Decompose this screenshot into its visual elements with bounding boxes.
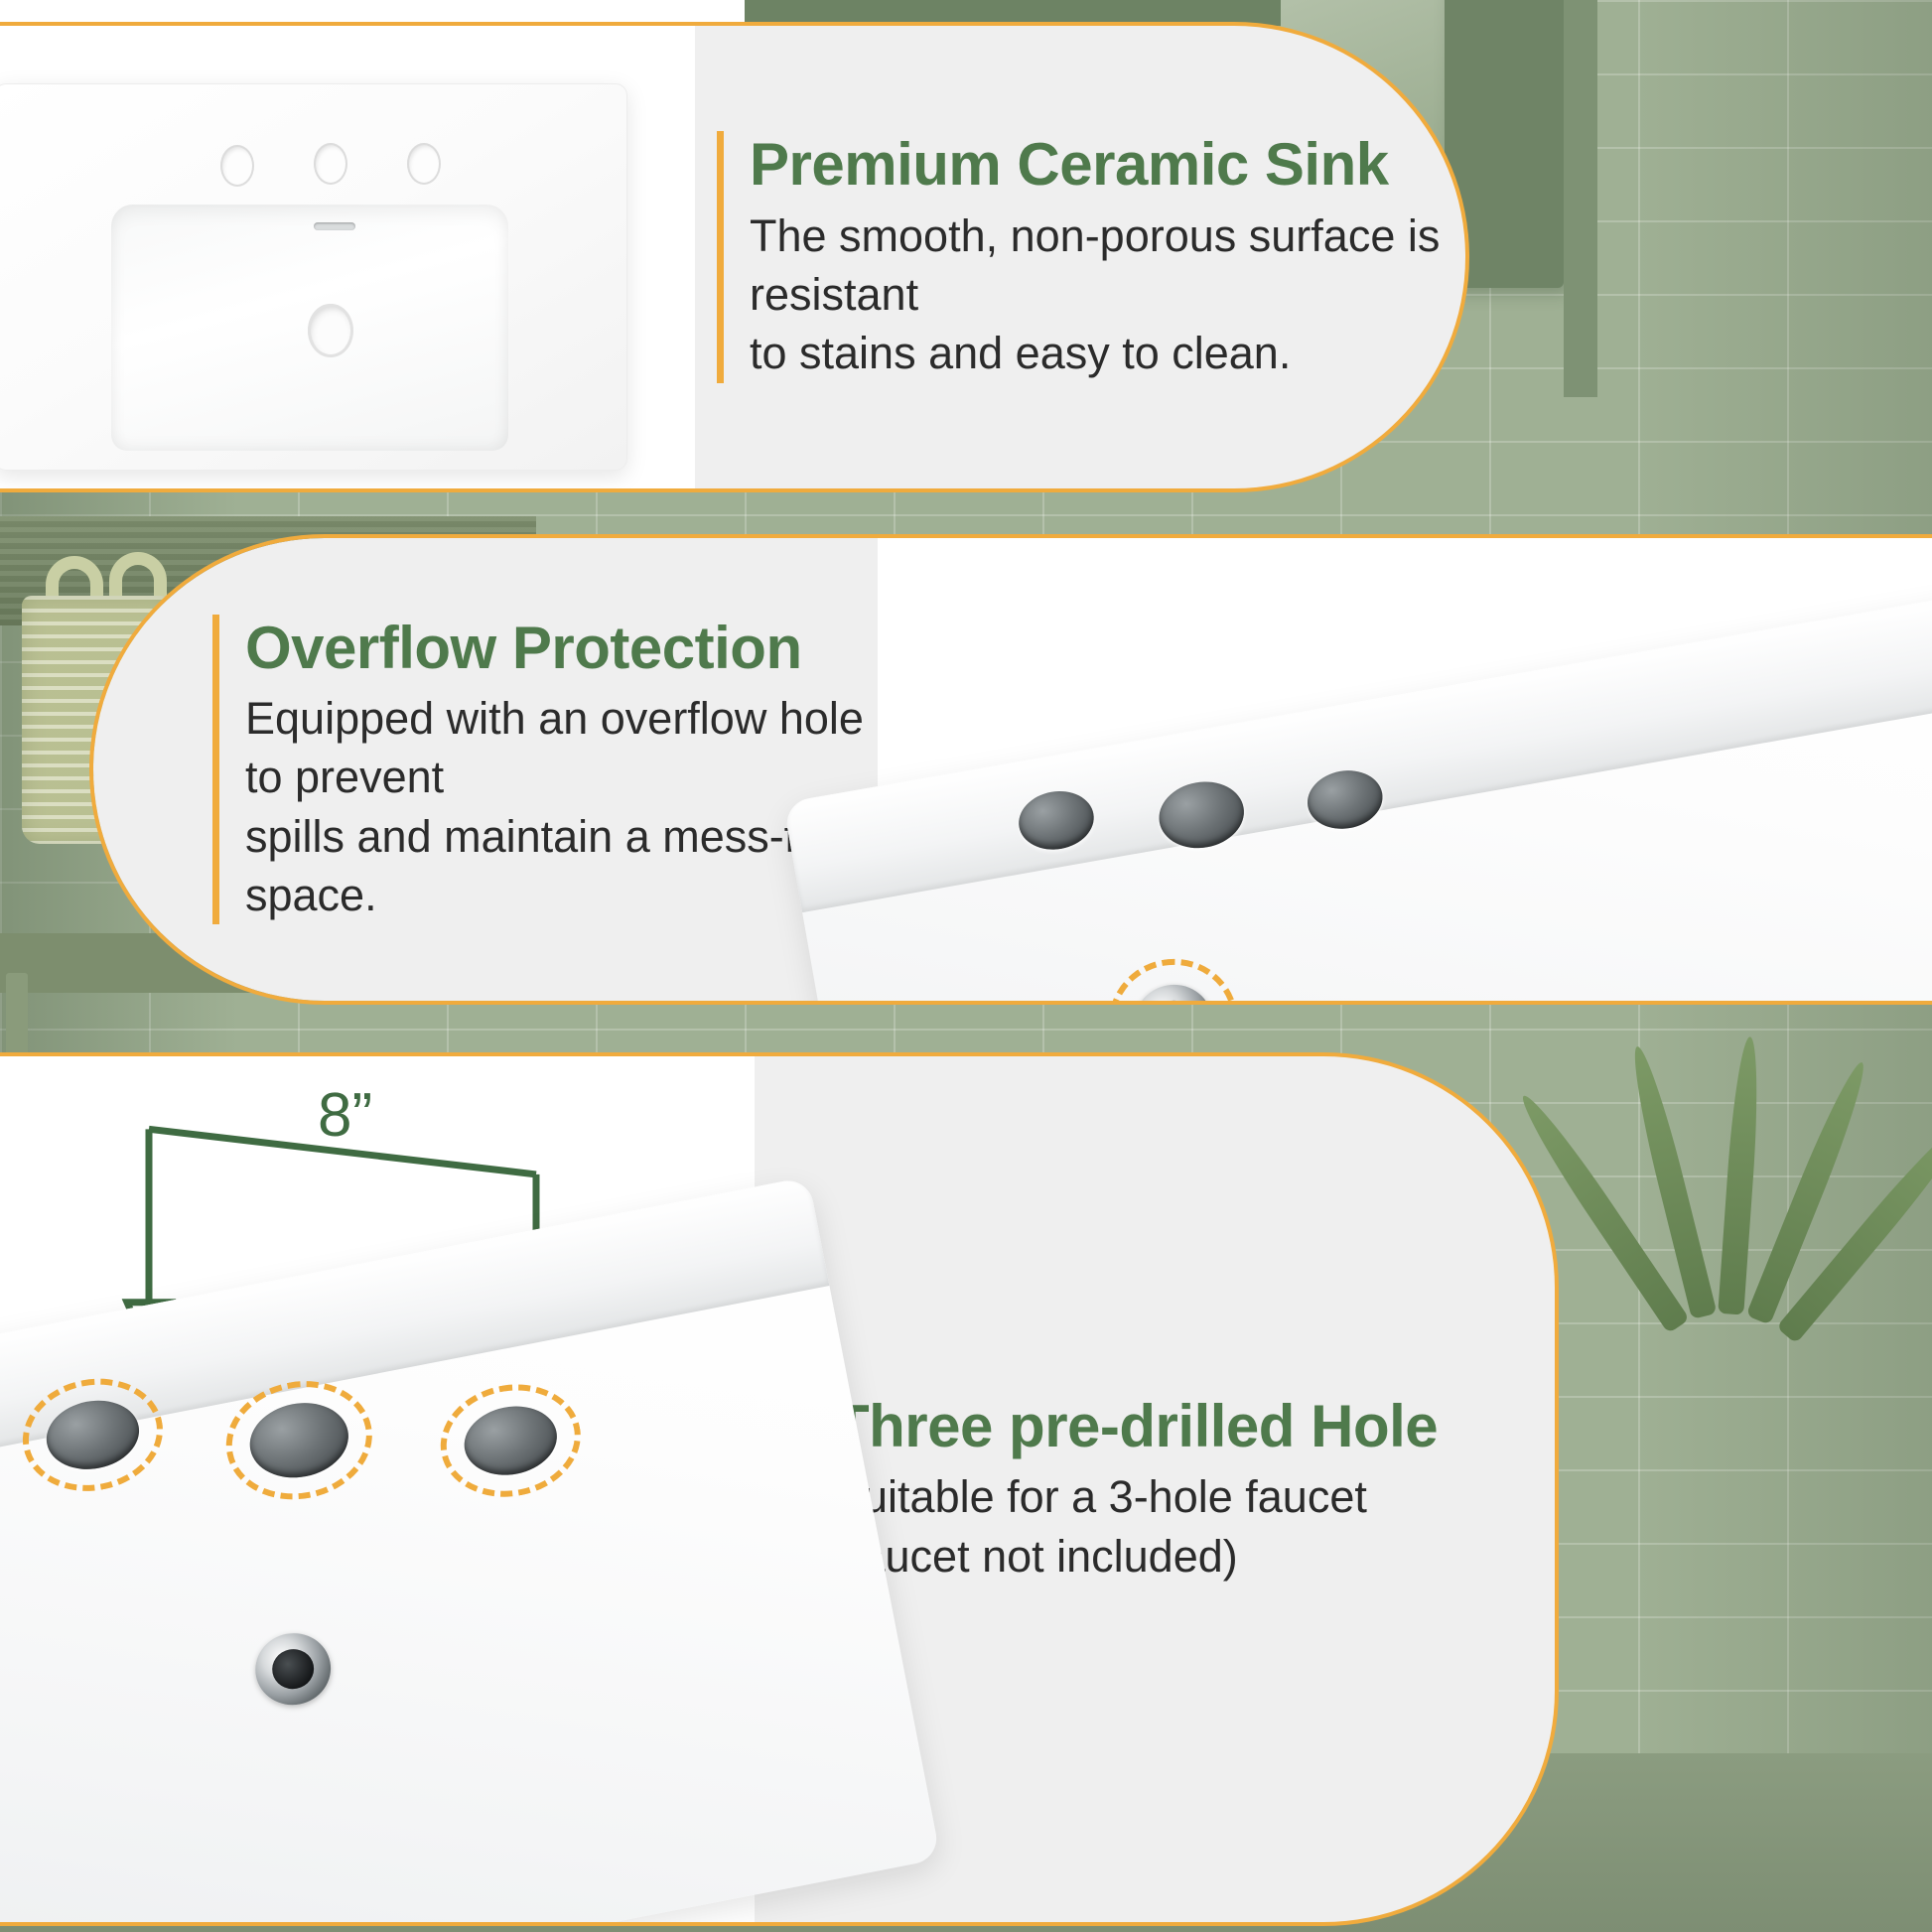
faucet-hole xyxy=(407,143,441,185)
accent-bar-text-group: Premium Ceramic Sink The smooth, non-por… xyxy=(717,131,1465,382)
feature-panel-three-pre-drilled-hole: 8” Three pre-drilled Hole Suitable for a… xyxy=(0,1052,1559,1926)
faucet-hole xyxy=(314,143,347,185)
drain-hole xyxy=(308,304,353,357)
sink-image-top-view xyxy=(0,26,695,488)
ceramic-sink-angled xyxy=(783,579,1932,1005)
feature-panel-premium-ceramic-sink: Premium Ceramic Sink The smooth, non-por… xyxy=(0,22,1469,492)
panel-3-heading: Three pre-drilled Hole xyxy=(833,1393,1438,1459)
accent-bar-text-group: Overflow Protection Equipped with an ove… xyxy=(212,615,878,925)
sink-image-faucet-holes-view: 8” xyxy=(0,1056,755,1922)
panel-2-body-line-1: Equipped with an overflow hole to preven… xyxy=(245,689,878,807)
feature-text-block: Premium Ceramic Sink The smooth, non-por… xyxy=(695,26,1465,488)
palm-frond xyxy=(1718,1035,1762,1314)
cabinet-post xyxy=(1564,0,1597,397)
panel-1-body-line-2: to stains and easy to clean. xyxy=(750,324,1465,382)
panel-3-body-line-1: Suitable for a 3-hole faucet xyxy=(833,1467,1438,1526)
dashed-highlight-ring-icon xyxy=(1099,949,1248,1005)
dashed-highlight-ring-icon xyxy=(431,1373,591,1509)
overflow-slot xyxy=(314,222,355,230)
sink-rim xyxy=(783,579,1932,912)
feature-text-block: Overflow Protection Equipped with an ove… xyxy=(93,538,878,1001)
accent-bar-text-group: Three pre-drilled Hole Suitable for a 3-… xyxy=(800,1393,1438,1586)
faucet-spread-label: 8” xyxy=(318,1080,372,1151)
faucet-hole xyxy=(220,145,254,187)
ceramic-sink-angled xyxy=(0,1176,941,1926)
panel-2-body-line-2: spills and maintain a mess-free space. xyxy=(245,807,878,925)
ceramic-sink-flat xyxy=(0,83,627,471)
feature-panel-overflow-protection: Overflow Protection Equipped with an ove… xyxy=(89,534,1932,1005)
sink-image-overflow-view xyxy=(878,538,1932,1001)
panel-3-body-line-2: (faucet not included) xyxy=(833,1527,1438,1586)
panel-1-body-line-1: The smooth, non-porous surface is resist… xyxy=(750,207,1465,325)
overflow-hole xyxy=(249,1627,337,1712)
palm-plant xyxy=(1549,1013,1932,1430)
panel-2-heading: Overflow Protection xyxy=(245,615,878,681)
panel-1-heading: Premium Ceramic Sink xyxy=(750,131,1465,198)
